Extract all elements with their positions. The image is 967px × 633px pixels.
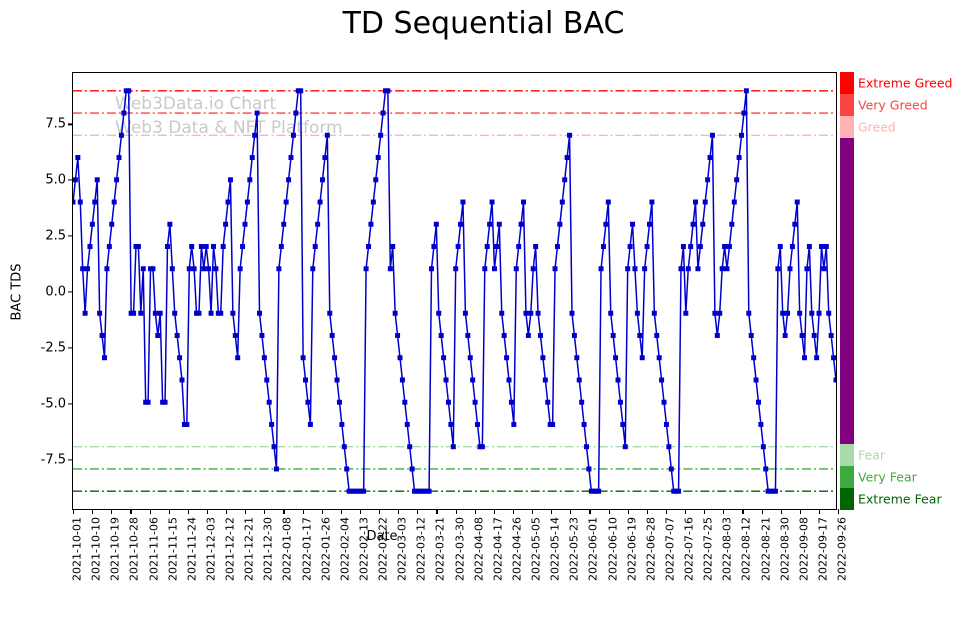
x-tick-mark [436, 509, 437, 514]
x-tick-mark [494, 509, 495, 514]
x-tick-mark [666, 509, 667, 514]
y-tick-mark [68, 459, 73, 460]
y-tick-mark [68, 403, 73, 404]
sentiment-colorbar: Extreme GreedVery GreedGreedFearVery Fea… [840, 72, 854, 510]
x-tick-mark [742, 509, 743, 514]
x-tick-mark [398, 509, 399, 514]
x-tick-label: 2021-12-03 [204, 517, 217, 581]
x-tick-mark [628, 509, 629, 514]
x-tick-label: 2022-03-30 [453, 517, 466, 581]
x-tick-mark [647, 509, 648, 514]
x-tick-mark [188, 509, 189, 514]
colorbar-label-extreme-fear: Extreme Fear [858, 492, 942, 507]
colorbar-label-very-greed: Very Greed [858, 97, 928, 112]
x-tick-label: 2022-04-08 [472, 517, 485, 581]
x-tick-label: 2021-11-15 [166, 517, 179, 581]
x-tick-mark [111, 509, 112, 514]
x-tick-label: 2022-06-10 [606, 517, 619, 581]
x-tick-mark [92, 509, 93, 514]
colorbar-segment-greed [840, 116, 854, 138]
x-tick-label: 2022-08-12 [740, 517, 753, 581]
y-tick-mark [68, 124, 73, 125]
x-tick-label: 2022-05-05 [530, 517, 543, 581]
x-tick-mark [609, 509, 610, 514]
x-tick-label: 2022-01-26 [319, 517, 332, 581]
x-tick-label: 2021-10-19 [109, 517, 122, 581]
x-tick-label: 2021-10-10 [90, 517, 103, 581]
x-tick-mark [685, 509, 686, 514]
y-axis-label: BAC TDS [10, 264, 25, 321]
x-tick-label: 2022-03-21 [434, 517, 447, 581]
x-tick-mark [264, 509, 265, 514]
x-tick-label: 2022-06-19 [625, 517, 638, 581]
x-tick-mark [589, 509, 590, 514]
x-tick-label: 2022-01-17 [300, 517, 313, 581]
x-tick-label: 2021-10-01 [71, 517, 84, 581]
colorbar-segment-very-fear [840, 466, 854, 488]
x-tick-mark [341, 509, 342, 514]
x-tick-label: 2021-12-30 [262, 517, 275, 581]
chart-title: TD Sequential BAC [0, 6, 967, 41]
x-tick-label: 2022-05-23 [568, 517, 581, 581]
y-tick-label: 2.5 [45, 229, 66, 244]
x-tick-label: 2021-10-28 [128, 517, 141, 581]
x-tick-mark [417, 509, 418, 514]
x-tick-label: 2022-02-04 [338, 517, 351, 581]
y-tick-label: 0.0 [45, 285, 66, 300]
x-tick-mark [475, 509, 476, 514]
x-tick-mark [303, 509, 304, 514]
x-tick-label: 2021-12-12 [224, 517, 237, 581]
colorbar-segment-very-greed [840, 94, 854, 116]
y-tick-label: 5.0 [45, 173, 66, 188]
td-sequential-chart: TD Sequential BAC 2022-09-26 BAC TDS: -4… [0, 0, 967, 633]
x-tick-mark [838, 509, 839, 514]
x-tick-label: 2022-08-03 [721, 517, 734, 581]
colorbar-segment-extreme-fear [840, 488, 854, 510]
x-tick-mark [245, 509, 246, 514]
x-tick-mark [73, 509, 74, 514]
colorbar-segment-extreme-greed [840, 72, 854, 94]
x-tick-mark [283, 509, 284, 514]
x-tick-mark [226, 509, 227, 514]
x-tick-mark [379, 509, 380, 514]
x-tick-label: 2022-08-21 [759, 517, 772, 581]
x-tick-label: 2022-06-28 [644, 517, 657, 581]
x-tick-label: 2022-02-13 [357, 517, 370, 581]
x-tick-mark [781, 509, 782, 514]
x-tick-label: 2022-07-16 [683, 517, 696, 581]
x-tick-label: 2022-04-26 [510, 517, 523, 581]
y-tick-label: 7.5 [45, 117, 66, 132]
plot-area: Web3Data.io Chart Web3 Data & NFT Platfo… [72, 72, 837, 510]
x-tick-mark [150, 509, 151, 514]
series-line-bac-tds [73, 91, 836, 491]
y-tick-mark [68, 347, 73, 348]
x-tick-label: 2022-03-03 [396, 517, 409, 581]
x-tick-mark [551, 509, 552, 514]
x-tick-mark [207, 509, 208, 514]
colorbar-segment-fear [840, 444, 854, 466]
colorbar-segment-neutral [840, 138, 854, 445]
x-tick-label: 2022-07-07 [663, 517, 676, 581]
colorbar-label-fear: Fear [858, 448, 885, 463]
colorbar-label-greed: Greed [858, 119, 896, 134]
x-tick-label: 2021-11-24 [185, 517, 198, 581]
x-tick-label: 2022-09-26 [836, 517, 849, 581]
x-tick-mark [762, 509, 763, 514]
x-tick-label: 2022-02-22 [377, 517, 390, 581]
x-tick-mark [322, 509, 323, 514]
y-tick-mark [68, 180, 73, 181]
y-tick-label: -2.5 [41, 340, 66, 355]
colorbar-label-very-fear: Very Fear [858, 470, 917, 485]
x-tick-label: 2022-09-08 [797, 517, 810, 581]
x-tick-label: 2022-04-17 [491, 517, 504, 581]
x-tick-label: 2022-08-30 [778, 517, 791, 581]
colorbar-label-extreme-greed: Extreme Greed [858, 75, 952, 90]
y-tick-label: -7.5 [41, 452, 66, 467]
y-tick-mark [68, 236, 73, 237]
x-tick-mark [532, 509, 533, 514]
x-tick-mark [819, 509, 820, 514]
x-tick-mark [723, 509, 724, 514]
x-tick-label: 2022-06-01 [587, 517, 600, 581]
y-tick-mark [68, 291, 73, 292]
x-tick-mark [360, 509, 361, 514]
x-axis-label: Date [366, 529, 397, 544]
x-tick-label: 2021-11-06 [147, 517, 160, 581]
x-tick-label: 2022-05-14 [549, 517, 562, 581]
x-tick-mark [704, 509, 705, 514]
x-tick-label: 2022-01-08 [281, 517, 294, 581]
x-tick-label: 2021-12-21 [243, 517, 256, 581]
x-tick-label: 2022-07-25 [702, 517, 715, 581]
x-tick-mark [169, 509, 170, 514]
x-tick-label: 2022-03-12 [415, 517, 428, 581]
y-tick-label: -5.0 [41, 396, 66, 411]
x-tick-mark [456, 509, 457, 514]
x-tick-mark [570, 509, 571, 514]
x-tick-mark [800, 509, 801, 514]
x-tick-mark [130, 509, 131, 514]
plot-svg [73, 73, 836, 509]
x-tick-label: 2022-09-17 [816, 517, 829, 581]
x-tick-mark [513, 509, 514, 514]
